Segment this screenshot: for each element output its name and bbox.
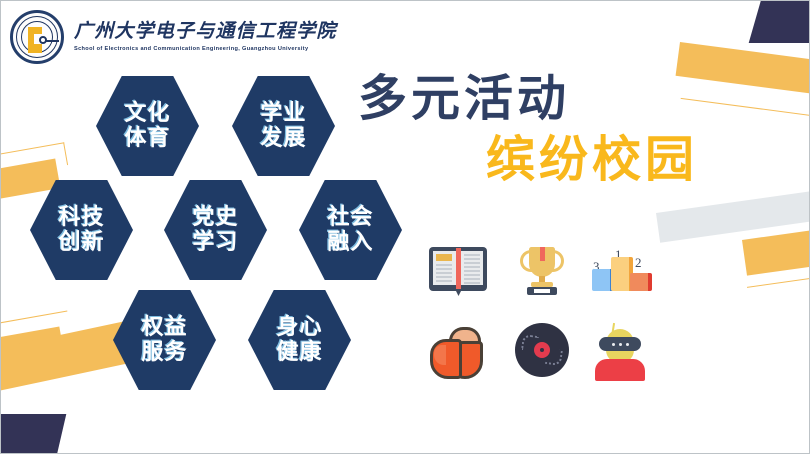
hexagon-rights-service[interactable]: 权益服务 — [113, 290, 216, 390]
page-title: 多元活动 缤纷校园 — [358, 75, 758, 185]
hexagon-label-line2: 融入 — [327, 230, 373, 255]
hexagon-label-line1: 社会 — [327, 205, 373, 230]
open-book-icon — [425, 237, 491, 303]
hexagon-label-line1: 权益 — [141, 315, 187, 340]
hexagon-party-history[interactable]: 党史学习 — [164, 180, 267, 280]
hexagon-label-line2: 体育 — [124, 126, 170, 151]
icon-cluster: 3 1 2 — [425, 237, 663, 395]
hexagon-label-line2: 健康 — [276, 340, 322, 365]
trophy-icon — [509, 237, 575, 303]
hexagon-mind-body-health[interactable]: 身心健康 — [248, 290, 351, 390]
hexagon-label-line1: 学业 — [260, 101, 306, 126]
hexagon-social-inclusion[interactable]: 社会融入 — [299, 180, 402, 280]
hexagon-culture-sports[interactable]: 文化体育 — [96, 76, 199, 176]
deco-top-right-navy-block — [749, 0, 810, 43]
deco-right-gray-band — [656, 180, 810, 242]
vr-person-icon — [587, 319, 653, 385]
hexagon-academic-growth[interactable]: 学业发展 — [232, 76, 335, 176]
hexagon-label-line1: 身心 — [276, 315, 322, 340]
school-logo: 广州大学电子与通信工程学院 School of Electronics and … — [10, 10, 337, 64]
hexagon-label-line2: 发展 — [260, 126, 306, 151]
muscle-icon — [425, 319, 491, 385]
deco-left-gold-outline-bottom — [0, 311, 71, 354]
school-seal-icon — [10, 10, 64, 64]
podium-place-2: 2 — [635, 255, 642, 271]
hexagon-label-line2: 创新 — [58, 230, 104, 255]
hexagon-label-line2: 服务 — [141, 340, 187, 365]
record-icon — [509, 319, 575, 385]
deco-right-gold-outline — [745, 249, 810, 288]
deco-left-gold-outline-top — [0, 142, 68, 186]
school-name-cn: 广州大学电子与通信工程学院 — [74, 22, 337, 43]
deco-bottom-left-navy-block — [0, 414, 66, 454]
hexagon-label-line2: 学习 — [192, 230, 238, 255]
title-line-2: 缤纷校园 — [486, 136, 758, 185]
school-name-en: School of Electronics and Communication … — [74, 46, 337, 52]
hexagon-tech-innovation[interactable]: 科技创新 — [30, 180, 133, 280]
hexagon-label-line1: 党史 — [192, 205, 238, 230]
hexagon-label-line1: 文化 — [124, 101, 170, 126]
title-line-1: 多元活动 — [358, 75, 758, 124]
hexagon-label-line1: 科技 — [58, 205, 104, 230]
deco-left-gold-band-bottom — [0, 327, 65, 378]
deco-right-gold-band — [742, 216, 810, 275]
podium-icon: 3 1 2 — [587, 237, 653, 303]
slide-canvas: 广州大学电子与通信工程学院 School of Electronics and … — [0, 0, 810, 454]
